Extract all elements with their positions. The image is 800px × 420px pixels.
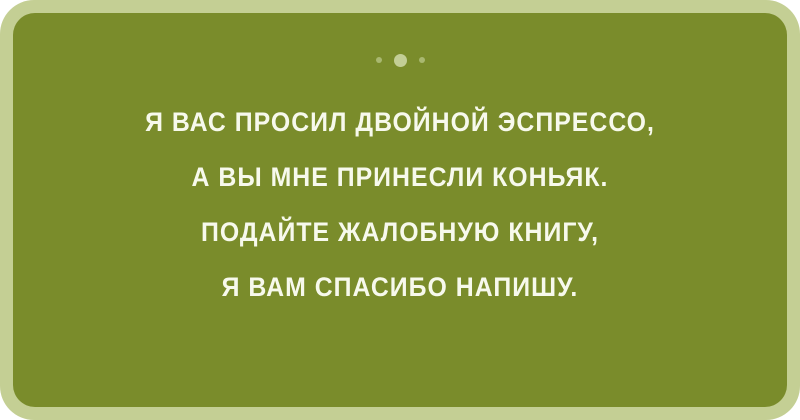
quote-line-3: ПОДАЙТЕ ЖАЛОБНУЮ КНИГУ, [44,205,756,260]
ornament-dot-center-icon [394,54,407,67]
quote-line-2: А ВЫ МНЕ ПРИНЕСЛИ КОНЬЯК. [44,150,756,205]
quote-card-inner: Я ВАС ПРОСИЛ ДВОЙНОЙ ЭСПРЕССО, А ВЫ МНЕ … [13,13,787,407]
quote-card: Я ВАС ПРОСИЛ ДВОЙНОЙ ЭСПРЕССО, А ВЫ МНЕ … [0,0,800,420]
quote-line-4: Я ВАМ СПАСИБО НАПИШУ. [44,260,756,315]
quote-line-1: Я ВАС ПРОСИЛ ДВОЙНОЙ ЭСПРЕССО, [44,95,756,150]
ornament-dot-left-icon [376,57,382,63]
quote-text: Я ВАС ПРОСИЛ ДВОЙНОЙ ЭСПРЕССО, А ВЫ МНЕ … [13,95,787,315]
three-dots-ornament [376,53,425,67]
ornament-dot-right-icon [419,57,425,63]
